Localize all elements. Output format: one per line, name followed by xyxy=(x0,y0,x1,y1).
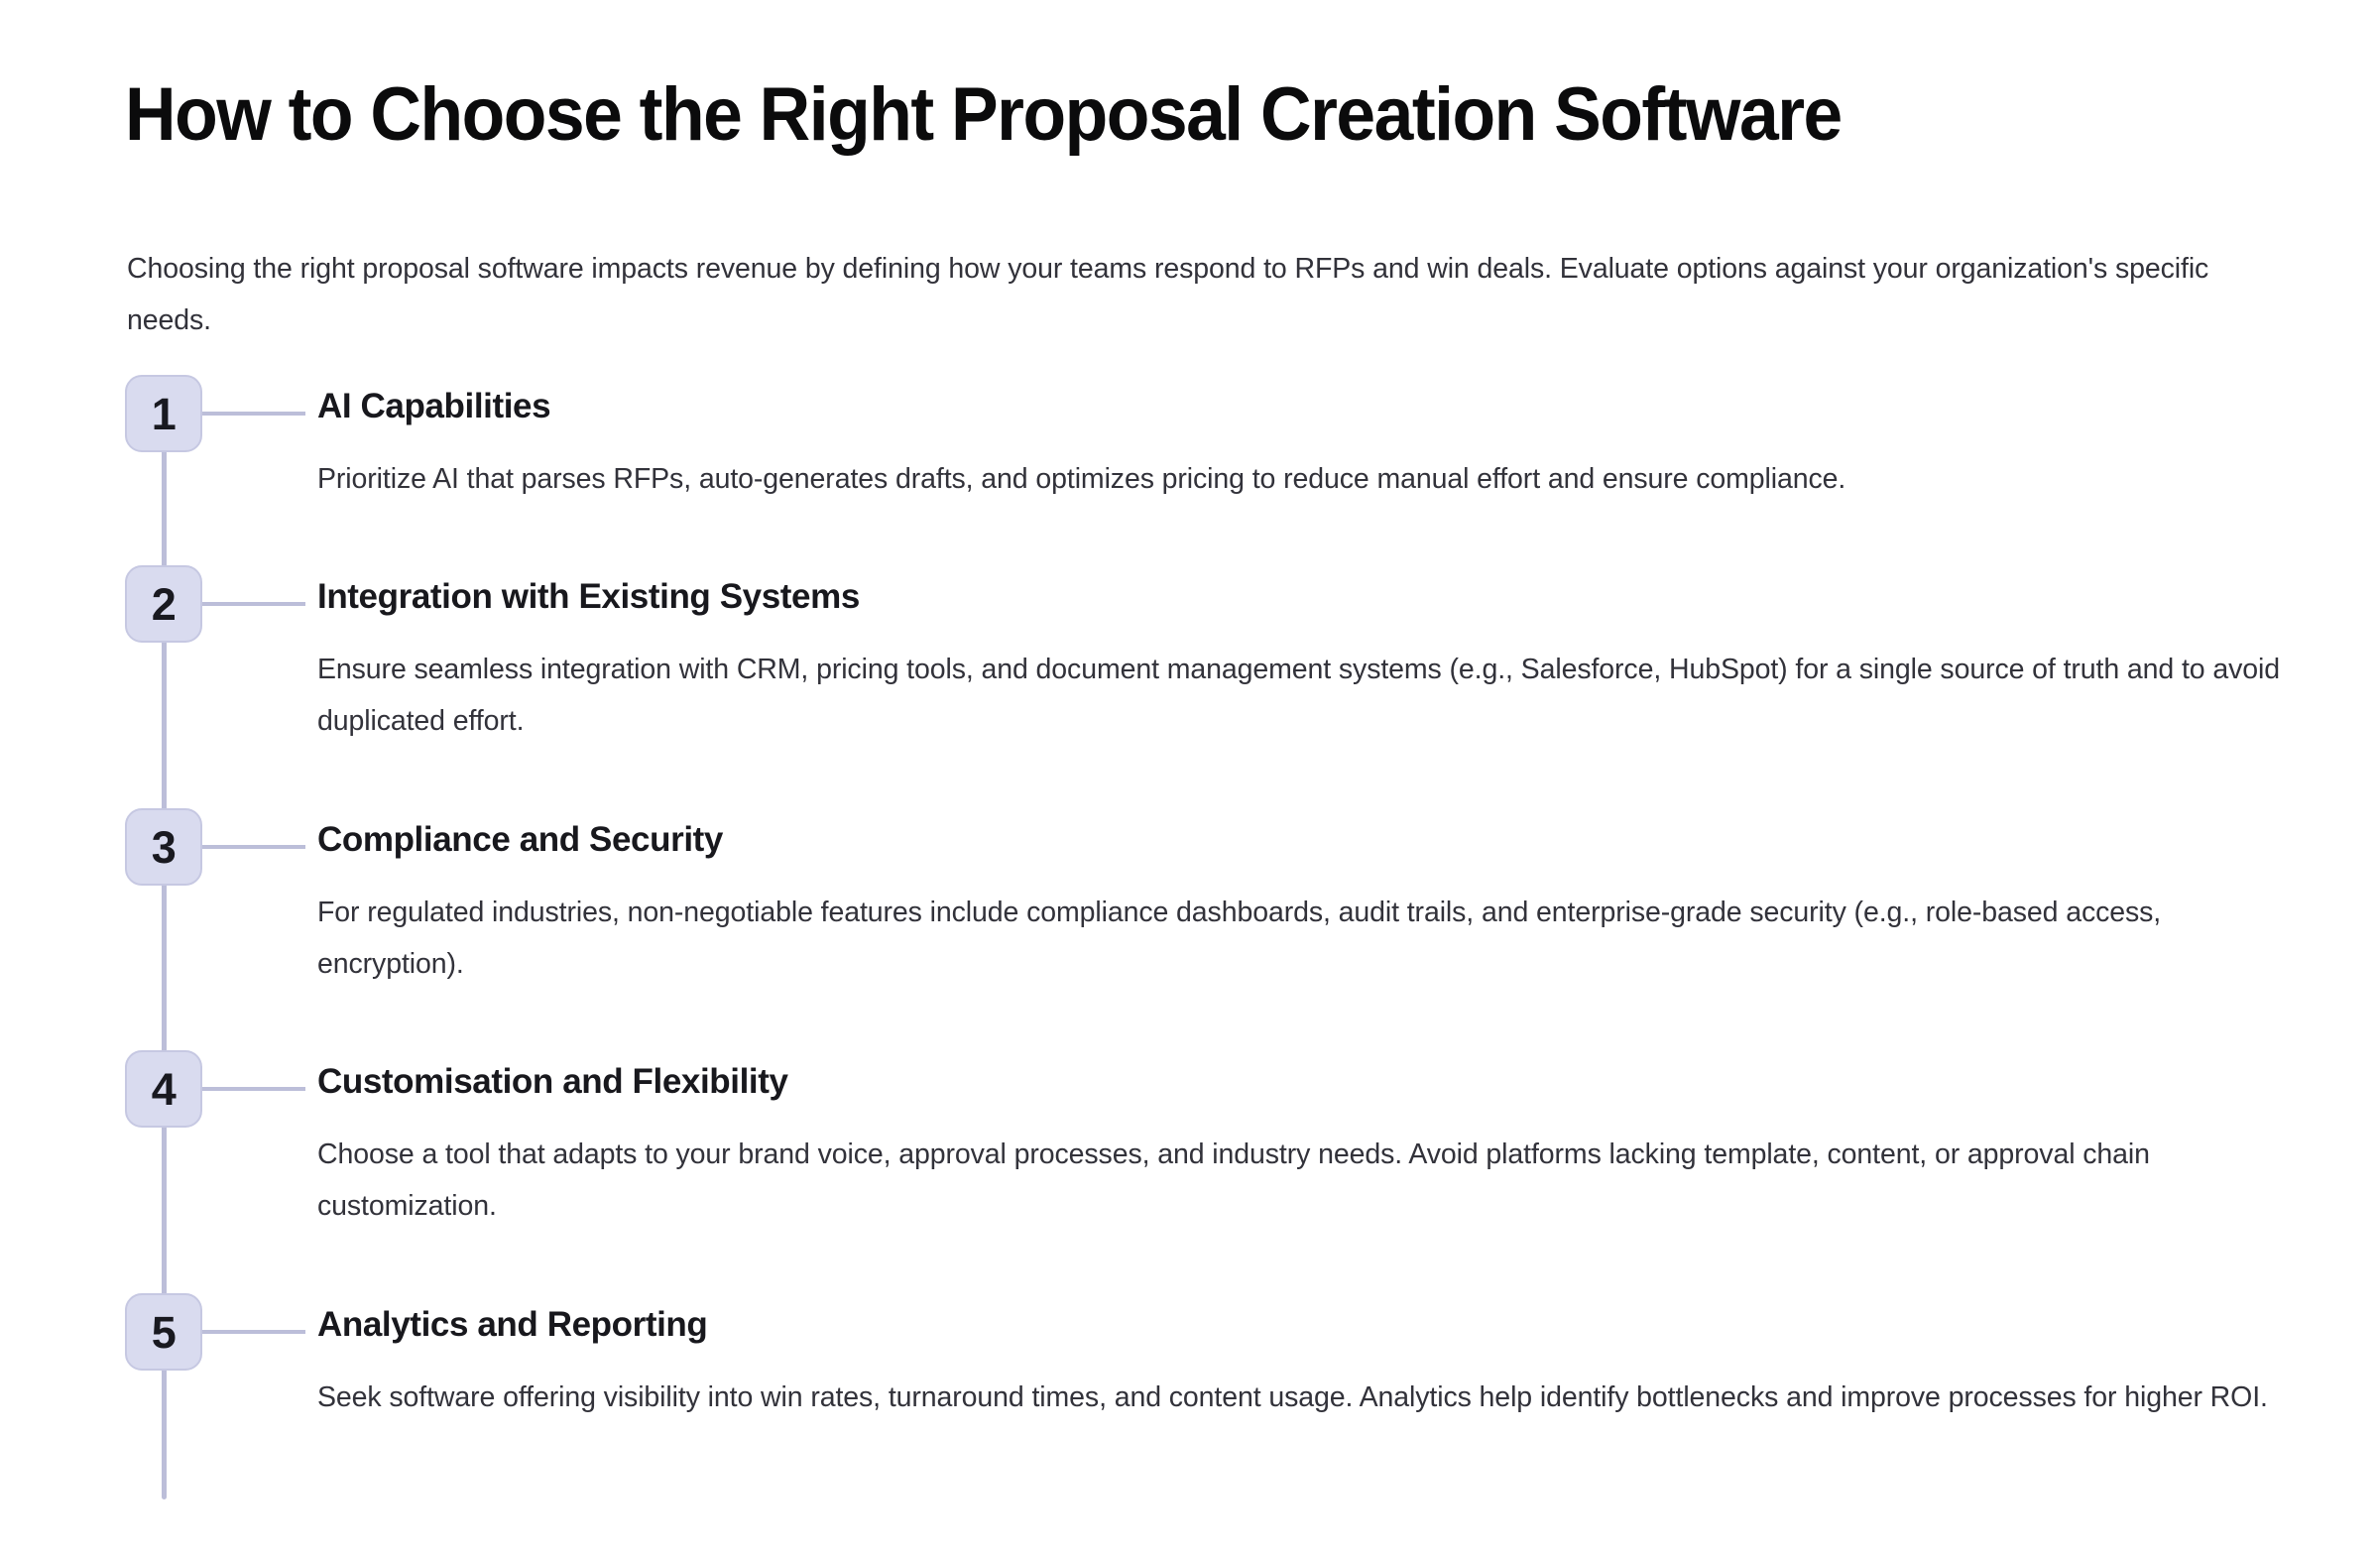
step-number-badge: 3 xyxy=(125,808,202,886)
step-number-badge: 2 xyxy=(125,565,202,643)
intro-paragraph: Choosing the right proposal software imp… xyxy=(127,243,2209,346)
step-number: 3 xyxy=(152,825,177,870)
step-connector-line xyxy=(202,1087,305,1091)
step-description: Seek software offering visibility into w… xyxy=(317,1345,2291,1423)
step-description: Prioritize AI that parses RFPs, auto-gen… xyxy=(317,426,2291,505)
infographic-page: How to Choose the Right Proposal Creatio… xyxy=(0,0,2380,1557)
step-connector-line xyxy=(202,412,305,416)
step-number-badge: 5 xyxy=(125,1293,202,1371)
step-body: Integration with Existing SystemsEnsure … xyxy=(317,578,2301,747)
step-body: AI CapabilitiesPrioritize AI that parses… xyxy=(317,388,2301,505)
step-title: Compliance and Security xyxy=(317,821,2301,860)
step-connector-line xyxy=(202,602,305,606)
page-title: How to Choose the Right Proposal Creatio… xyxy=(125,77,2157,153)
step-number: 5 xyxy=(152,1310,177,1355)
step-title: Customisation and Flexibility xyxy=(317,1063,2301,1102)
step-title: Integration with Existing Systems xyxy=(317,578,2301,617)
step-number: 4 xyxy=(152,1067,177,1112)
page-title-container: How to Choose the Right Proposal Creatio… xyxy=(125,77,2287,153)
step-body: Customisation and FlexibilityChoose a to… xyxy=(317,1063,2301,1232)
step-number-badge: 1 xyxy=(125,375,202,452)
step-title: Analytics and Reporting xyxy=(317,1306,2301,1345)
step-description: Choose a tool that adapts to your brand … xyxy=(317,1102,2291,1232)
step-connector-line xyxy=(202,1330,305,1334)
step-number: 2 xyxy=(152,582,177,627)
step-title: AI Capabilities xyxy=(317,388,2301,426)
step-body: Compliance and SecurityFor regulated ind… xyxy=(317,821,2301,990)
step-number-badge: 4 xyxy=(125,1050,202,1128)
step-connector-line xyxy=(202,845,305,849)
step-description: Ensure seamless integration with CRM, pr… xyxy=(317,617,2291,747)
step-number: 1 xyxy=(152,392,177,436)
step-description: For regulated industries, non-negotiable… xyxy=(317,860,2291,990)
step-body: Analytics and ReportingSeek software off… xyxy=(317,1306,2301,1423)
